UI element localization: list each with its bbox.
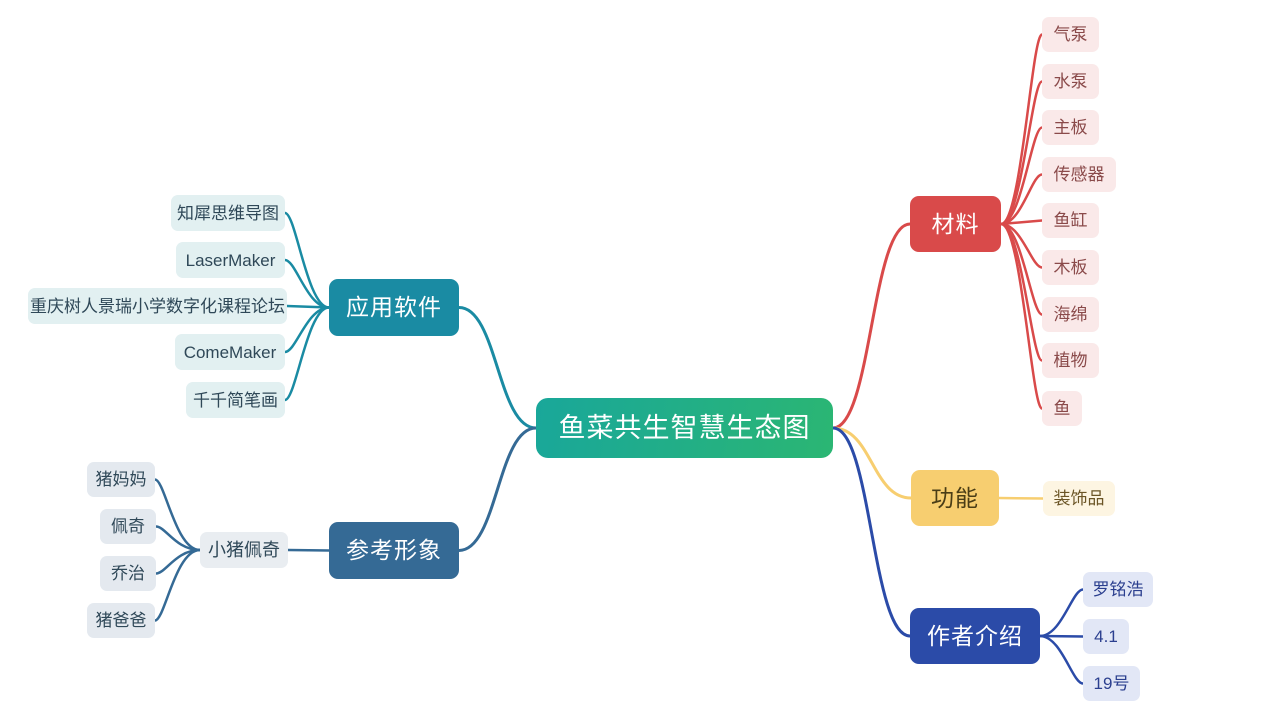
leaf-node-material-2[interactable]: 主板	[1042, 110, 1099, 145]
connector	[156, 527, 200, 551]
leaf-node-material-5[interactable]: 木板	[1042, 250, 1099, 285]
root-node[interactable]: 鱼菜共生智慧生态图	[536, 398, 833, 458]
leaf-node-function-0[interactable]: 装饰品	[1043, 481, 1115, 516]
leaf-node-material-8[interactable]: 鱼	[1042, 391, 1082, 426]
branch-node-software[interactable]: 应用软件	[329, 279, 459, 336]
branch-node-author[interactable]: 作者介绍	[910, 608, 1040, 664]
leaf-node-material-0[interactable]: 气泵	[1042, 17, 1099, 52]
connector	[1040, 590, 1083, 637]
connector	[459, 308, 536, 429]
leaf-node-author-2[interactable]: 19号	[1083, 666, 1140, 701]
connector	[833, 224, 910, 428]
leaf-node-author-1[interactable]: 4.1	[1083, 619, 1129, 654]
leaf-node-material-3[interactable]: 传感器	[1042, 157, 1116, 192]
connector	[1040, 636, 1083, 684]
connector	[999, 498, 1043, 499]
mindmap-canvas[interactable]: 鱼菜共生智慧生态图材料气泵水泵主板传感器鱼缸木板海绵植物鱼应用软件知犀思维导图L…	[0, 0, 1261, 709]
leaf-node-material-1[interactable]: 水泵	[1042, 64, 1099, 99]
connector	[1001, 175, 1042, 225]
connector	[833, 428, 911, 498]
connector	[285, 308, 329, 353]
branch-node-material[interactable]: 材料	[910, 196, 1001, 252]
connector	[1001, 82, 1042, 225]
leaf-node-software-0[interactable]: 知犀思维导图	[171, 195, 285, 231]
connector	[287, 306, 329, 308]
leaf-node-software-3[interactable]: ComeMaker	[175, 334, 285, 370]
connector	[288, 550, 329, 551]
leaf-node-material-4[interactable]: 鱼缸	[1042, 203, 1099, 238]
leaf-node-reference-1[interactable]: 佩奇	[100, 509, 156, 544]
connector	[155, 480, 200, 551]
leaf-node-author-0[interactable]: 罗铭浩	[1083, 572, 1153, 607]
leaf-node-software-1[interactable]: LaserMaker	[176, 242, 285, 278]
connector	[1001, 224, 1042, 268]
connector	[1001, 35, 1042, 225]
connector	[1040, 636, 1083, 637]
leaf-node-material-6[interactable]: 海绵	[1042, 297, 1099, 332]
connector	[1001, 224, 1042, 315]
leaf-node-software-4[interactable]: 千千简笔画	[186, 382, 285, 418]
branch-node-function[interactable]: 功能	[911, 470, 999, 526]
connector	[1001, 224, 1042, 361]
connector	[285, 213, 329, 308]
sub-node-reference[interactable]: 小猪佩奇	[200, 532, 288, 568]
connector	[1001, 221, 1042, 225]
leaf-node-software-2[interactable]: 重庆树人景瑞小学数字化课程论坛	[28, 288, 287, 324]
connector	[1001, 224, 1042, 409]
connector	[285, 260, 329, 308]
connector	[459, 428, 536, 551]
connector	[1001, 128, 1042, 225]
leaf-node-reference-3[interactable]: 猪爸爸	[87, 603, 155, 638]
connector	[156, 550, 200, 574]
connector	[155, 550, 200, 621]
leaf-node-material-7[interactable]: 植物	[1042, 343, 1099, 378]
connector	[833, 428, 910, 636]
leaf-node-reference-2[interactable]: 乔治	[100, 556, 156, 591]
connector	[285, 308, 329, 401]
branch-node-reference[interactable]: 参考形象	[329, 522, 459, 579]
leaf-node-reference-0[interactable]: 猪妈妈	[87, 462, 155, 497]
